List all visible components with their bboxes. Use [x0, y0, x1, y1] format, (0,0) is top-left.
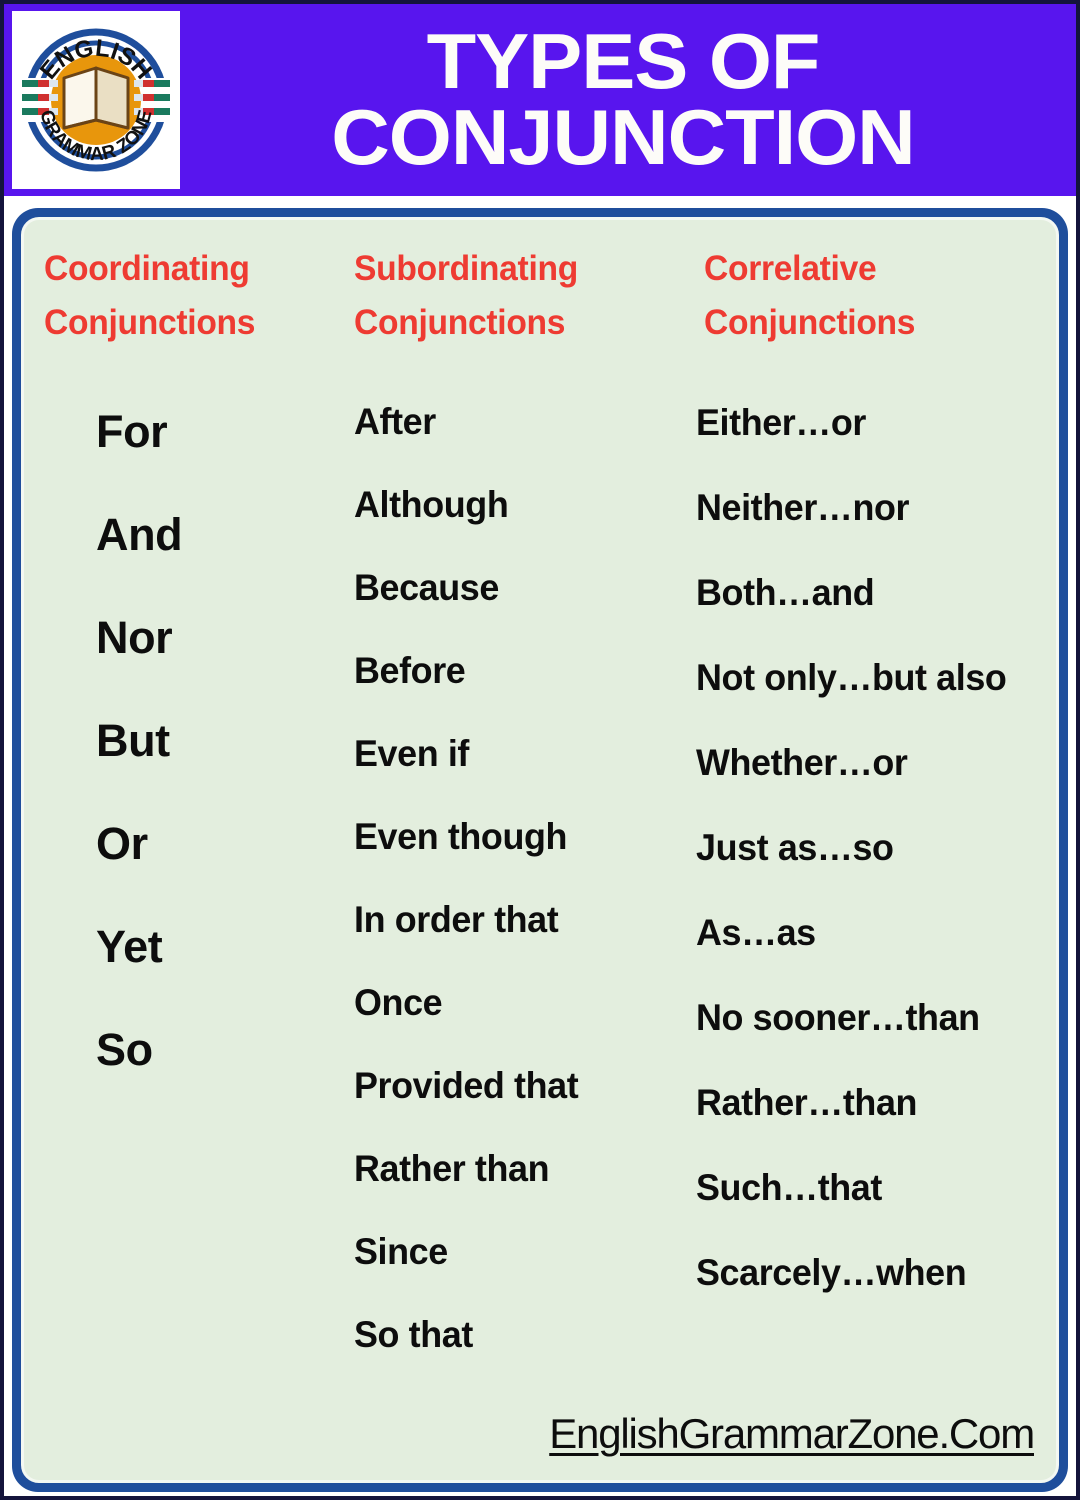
list-item: Whether…or	[696, 720, 1059, 805]
list-item: So that	[354, 1293, 674, 1376]
content-card: Coordinating Conjunctions Subordinating …	[21, 217, 1059, 1483]
list-item: Although	[354, 463, 674, 546]
list-item: And	[96, 483, 326, 586]
list-item: Or	[96, 792, 326, 895]
list-item: Even though	[354, 795, 674, 878]
list-item: Even if	[354, 712, 674, 795]
column-header-subordinating: Subordinating Conjunctions	[354, 242, 578, 351]
list-item: Once	[354, 961, 674, 1044]
list-item: Scarcely…when	[696, 1230, 1059, 1315]
content-card-border: Coordinating Conjunctions Subordinating …	[12, 208, 1068, 1492]
column-headers-row: Coordinating Conjunctions Subordinating …	[24, 242, 1056, 362]
list-item: Provided that	[354, 1044, 674, 1127]
list-item: After	[354, 380, 674, 463]
brand-logo: ENGLISH GRAMMAR ZONE	[12, 11, 180, 189]
column-coordinating: For And Nor But Or Yet So	[96, 380, 326, 1101]
list-item: Nor	[96, 586, 326, 689]
list-item: Such…that	[696, 1145, 1059, 1230]
poster: ENGLISH GRAMMAR ZONE TYPES OF CONJUNCTIO…	[0, 0, 1080, 1500]
list-item: No sooner…than	[696, 975, 1059, 1060]
list-item: Before	[354, 629, 674, 712]
column-header-coordinating: Coordinating Conjunctions	[44, 242, 255, 351]
list-item: For	[96, 380, 326, 483]
list-item: Because	[354, 546, 674, 629]
list-item: Since	[354, 1210, 674, 1293]
list-item: Yet	[96, 895, 326, 998]
page-title: TYPES OF CONJUNCTION	[162, 24, 1080, 175]
list-item: Just as…so	[696, 805, 1059, 890]
title-container: TYPES OF CONJUNCTION	[180, 24, 1076, 175]
column-correlative: Either…or Neither…nor Both…and Not only……	[696, 380, 1059, 1315]
list-item: Rather…than	[696, 1060, 1059, 1145]
english-grammar-zone-logo-icon: ENGLISH GRAMMAR ZONE	[16, 16, 176, 184]
list-item: Rather than	[354, 1127, 674, 1210]
column-header-correlative: Correlative Conjunctions	[704, 242, 915, 351]
list-item: Not only…but also	[696, 635, 1059, 720]
list-item: In order that	[354, 878, 674, 961]
list-item: Neither…nor	[696, 465, 1059, 550]
list-item: Either…or	[696, 380, 1059, 465]
list-item: As…as	[696, 890, 1059, 975]
poster-header: ENGLISH GRAMMAR ZONE TYPES OF CONJUNCTIO…	[4, 4, 1076, 196]
list-item: Both…and	[696, 550, 1059, 635]
list-item: So	[96, 998, 326, 1101]
website-footer[interactable]: EnglishGrammarZone.Com	[549, 1410, 1034, 1458]
list-item: But	[96, 689, 326, 792]
column-subordinating: After Although Because Before Even if Ev…	[354, 380, 684, 1376]
